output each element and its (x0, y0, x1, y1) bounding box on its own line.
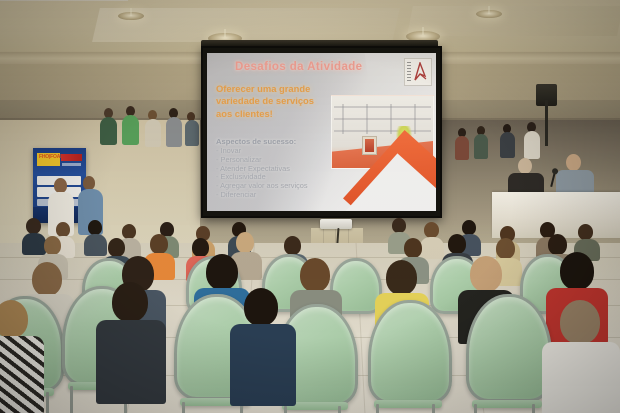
slide-photo-poster (362, 136, 377, 155)
audience-chair[interactable] (466, 294, 546, 396)
ceiling-light-icon (118, 12, 144, 20)
banner-accent-bar (61, 154, 82, 161)
projector (320, 219, 352, 229)
projection-screen: Desafios da Atividade Oferecer uma grand… (201, 46, 442, 218)
slide-aspect-item: Diferenciar (216, 191, 356, 200)
banner-subtitle-bar (62, 163, 81, 166)
ceiling-panel-right (407, 6, 620, 36)
presentation-slide: Desafios da Atividade Oferecer uma grand… (207, 53, 436, 211)
logo-mark-icon (412, 62, 428, 82)
ceiling-light-icon (476, 10, 502, 18)
speaker-stand (545, 100, 548, 146)
banner-logo-text: FHO|FOAD (39, 155, 64, 160)
slide-logo (404, 58, 432, 86)
slide-title: Desafios da Atividade (235, 61, 415, 73)
head-table-top (0, 0, 128, 1)
presentation-room-photo: Desafios da Atividade Oferecer uma grand… (0, 0, 620, 413)
audience-chair[interactable] (368, 300, 446, 398)
slide-headline: Oferecer uma grande variedade de serviço… (216, 83, 332, 120)
logo-text-bars (407, 62, 411, 82)
banner-logo-box: FHO|FOAD (37, 153, 60, 166)
